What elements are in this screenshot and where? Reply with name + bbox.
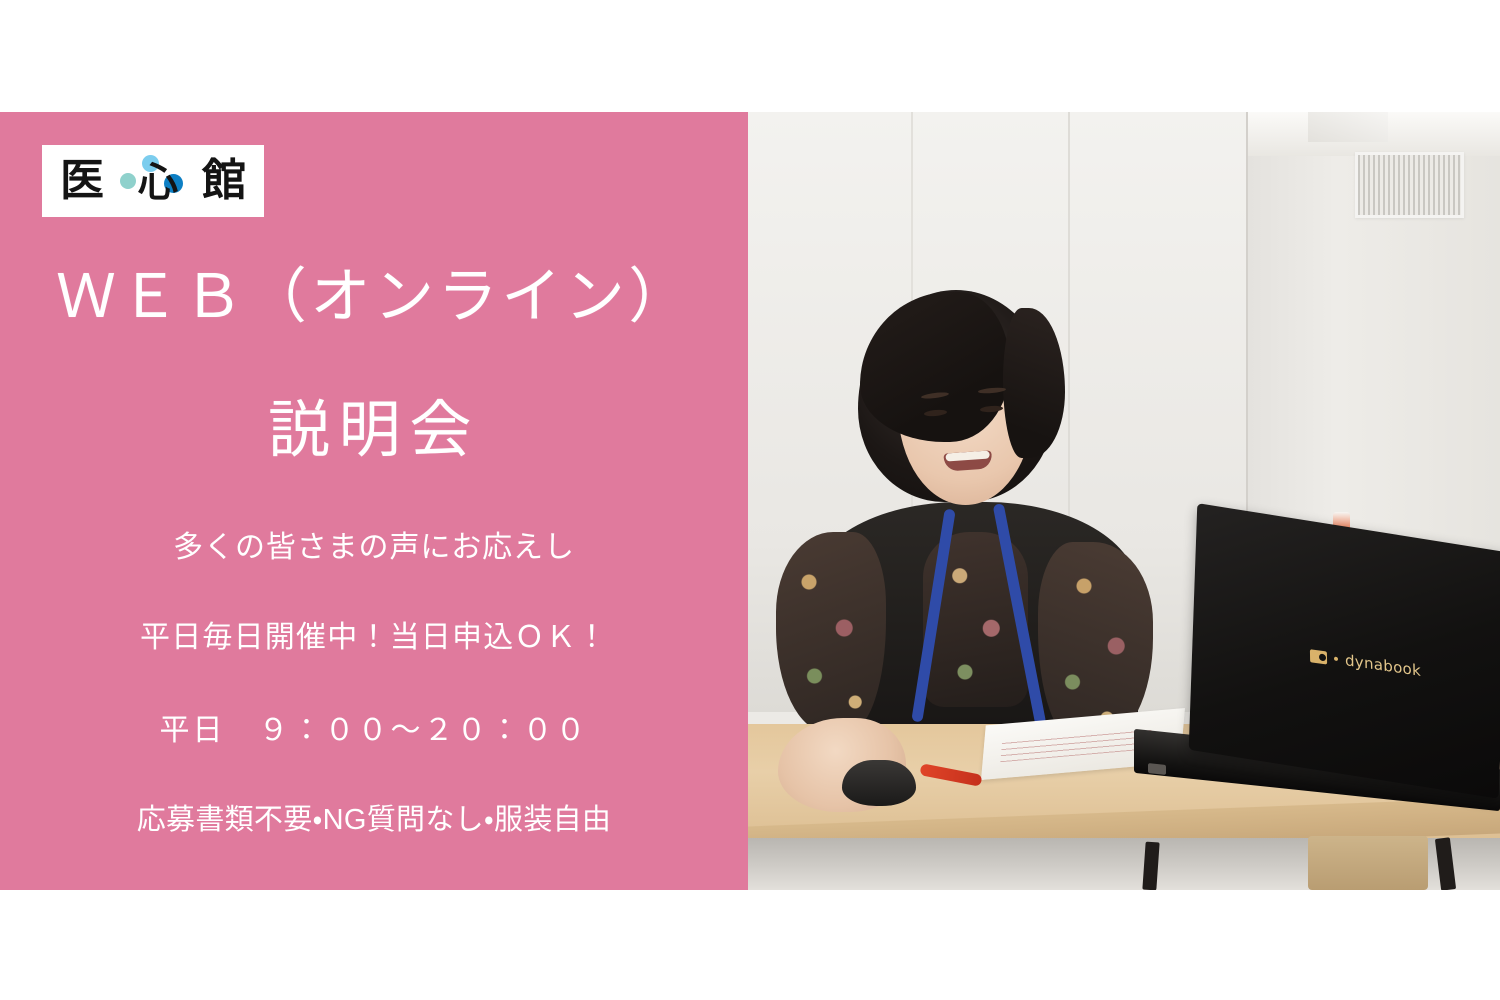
detail-line-1: 多くの皆さまの声にお応えし [0, 533, 748, 563]
content-band: 医 心 館 ＷＥＢ（オンライン） 説明会 多くの皆さまの声にお応えし 平日毎日開… [0, 112, 1500, 890]
banner-root: 医 心 館 ＷＥＢ（オンライン） 説明会 多くの皆さまの声にお応えし 平日毎日開… [0, 0, 1500, 1000]
brand-logo[interactable]: 医 心 館 [42, 145, 264, 217]
logo-char-kan: 館 [202, 159, 246, 203]
hero-photo: dynabook [748, 112, 1500, 890]
headline-primary: ＷＥＢ（オンライン） [0, 267, 748, 327]
photo-computer-mouse [842, 760, 916, 806]
pink-info-panel: 医 心 館 ＷＥＢ（オンライン） 説明会 多くの皆さまの声にお応えし 平日毎日開… [0, 112, 748, 890]
logo-heart-mark: 心 [120, 153, 186, 209]
brand-logo-inner: 医 心 館 [58, 153, 248, 209]
photo-person-teeth [945, 450, 989, 461]
detail-line-3: 平日 ９：００〜２０：００ [0, 716, 748, 746]
dynabook-mark-icon [1310, 649, 1327, 664]
logo-char-i: 医 [60, 159, 104, 203]
detail-line-4: 応募書類不要・NG質問なし・服装自由 [0, 806, 748, 835]
logo-dot-left-icon [120, 173, 136, 189]
wall-vent-icon [1355, 152, 1464, 218]
dynabook-dot-icon [1334, 657, 1338, 662]
photo-person-sleeve-left [776, 532, 886, 732]
logo-char-kokoro: 心 [138, 163, 178, 203]
photo-laptop-port [1148, 763, 1166, 775]
detail-line-2: 平日毎日開催中！当日申込ＯＫ！ [0, 623, 748, 653]
photo-chair [1308, 836, 1428, 890]
photo-ceiling-corner [1308, 112, 1388, 142]
headline-secondary: 説明会 [0, 400, 748, 462]
